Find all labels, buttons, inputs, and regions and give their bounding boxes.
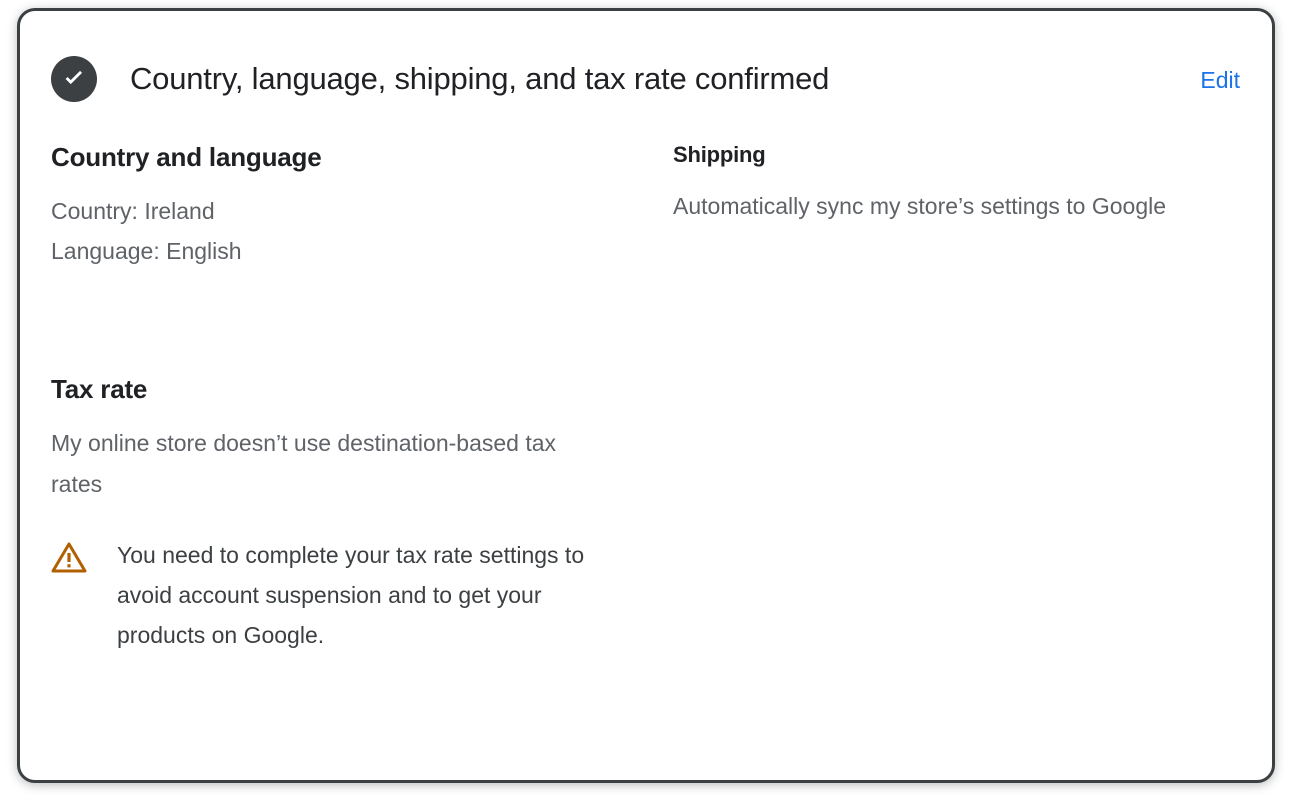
card-header: Country, language, shipping, and tax rat… <box>20 11 1272 141</box>
check-circle-icon <box>51 56 97 102</box>
shipping-description: Automatically sync my store’s settings t… <box>673 186 1213 227</box>
country-language-title: Country and language <box>51 141 611 173</box>
section-spacer <box>51 307 611 373</box>
page-title: Country, language, shipping, and tax rat… <box>130 60 1196 98</box>
tax-rate-warning: You need to complete your tax rate setti… <box>51 535 611 655</box>
language-value: Language: English <box>51 231 591 271</box>
country-value: Country: Ireland <box>51 191 591 231</box>
right-column: Shipping Automatically sync my store’s s… <box>673 141 1233 263</box>
edit-button[interactable]: Edit <box>1196 64 1244 96</box>
shipping-title: Shipping <box>673 141 1233 169</box>
card-body: Country and language Country: Ireland La… <box>51 141 1241 780</box>
section-tax-rate: Tax rate My online store doesn’t use des… <box>51 373 611 655</box>
section-shipping: Shipping Automatically sync my store’s s… <box>673 141 1233 227</box>
warning-triangle-icon <box>51 541 87 577</box>
confirmation-card: Country, language, shipping, and tax rat… <box>17 8 1275 783</box>
left-column: Country and language Country: Ireland La… <box>51 141 611 691</box>
section-country-language: Country and language Country: Ireland La… <box>51 141 611 271</box>
tax-rate-description: My online store doesn’t use destination-… <box>51 423 591 505</box>
tax-rate-warning-text: You need to complete your tax rate setti… <box>117 535 611 655</box>
screen: Country, language, shipping, and tax rat… <box>0 0 1296 800</box>
tax-rate-title: Tax rate <box>51 373 611 405</box>
